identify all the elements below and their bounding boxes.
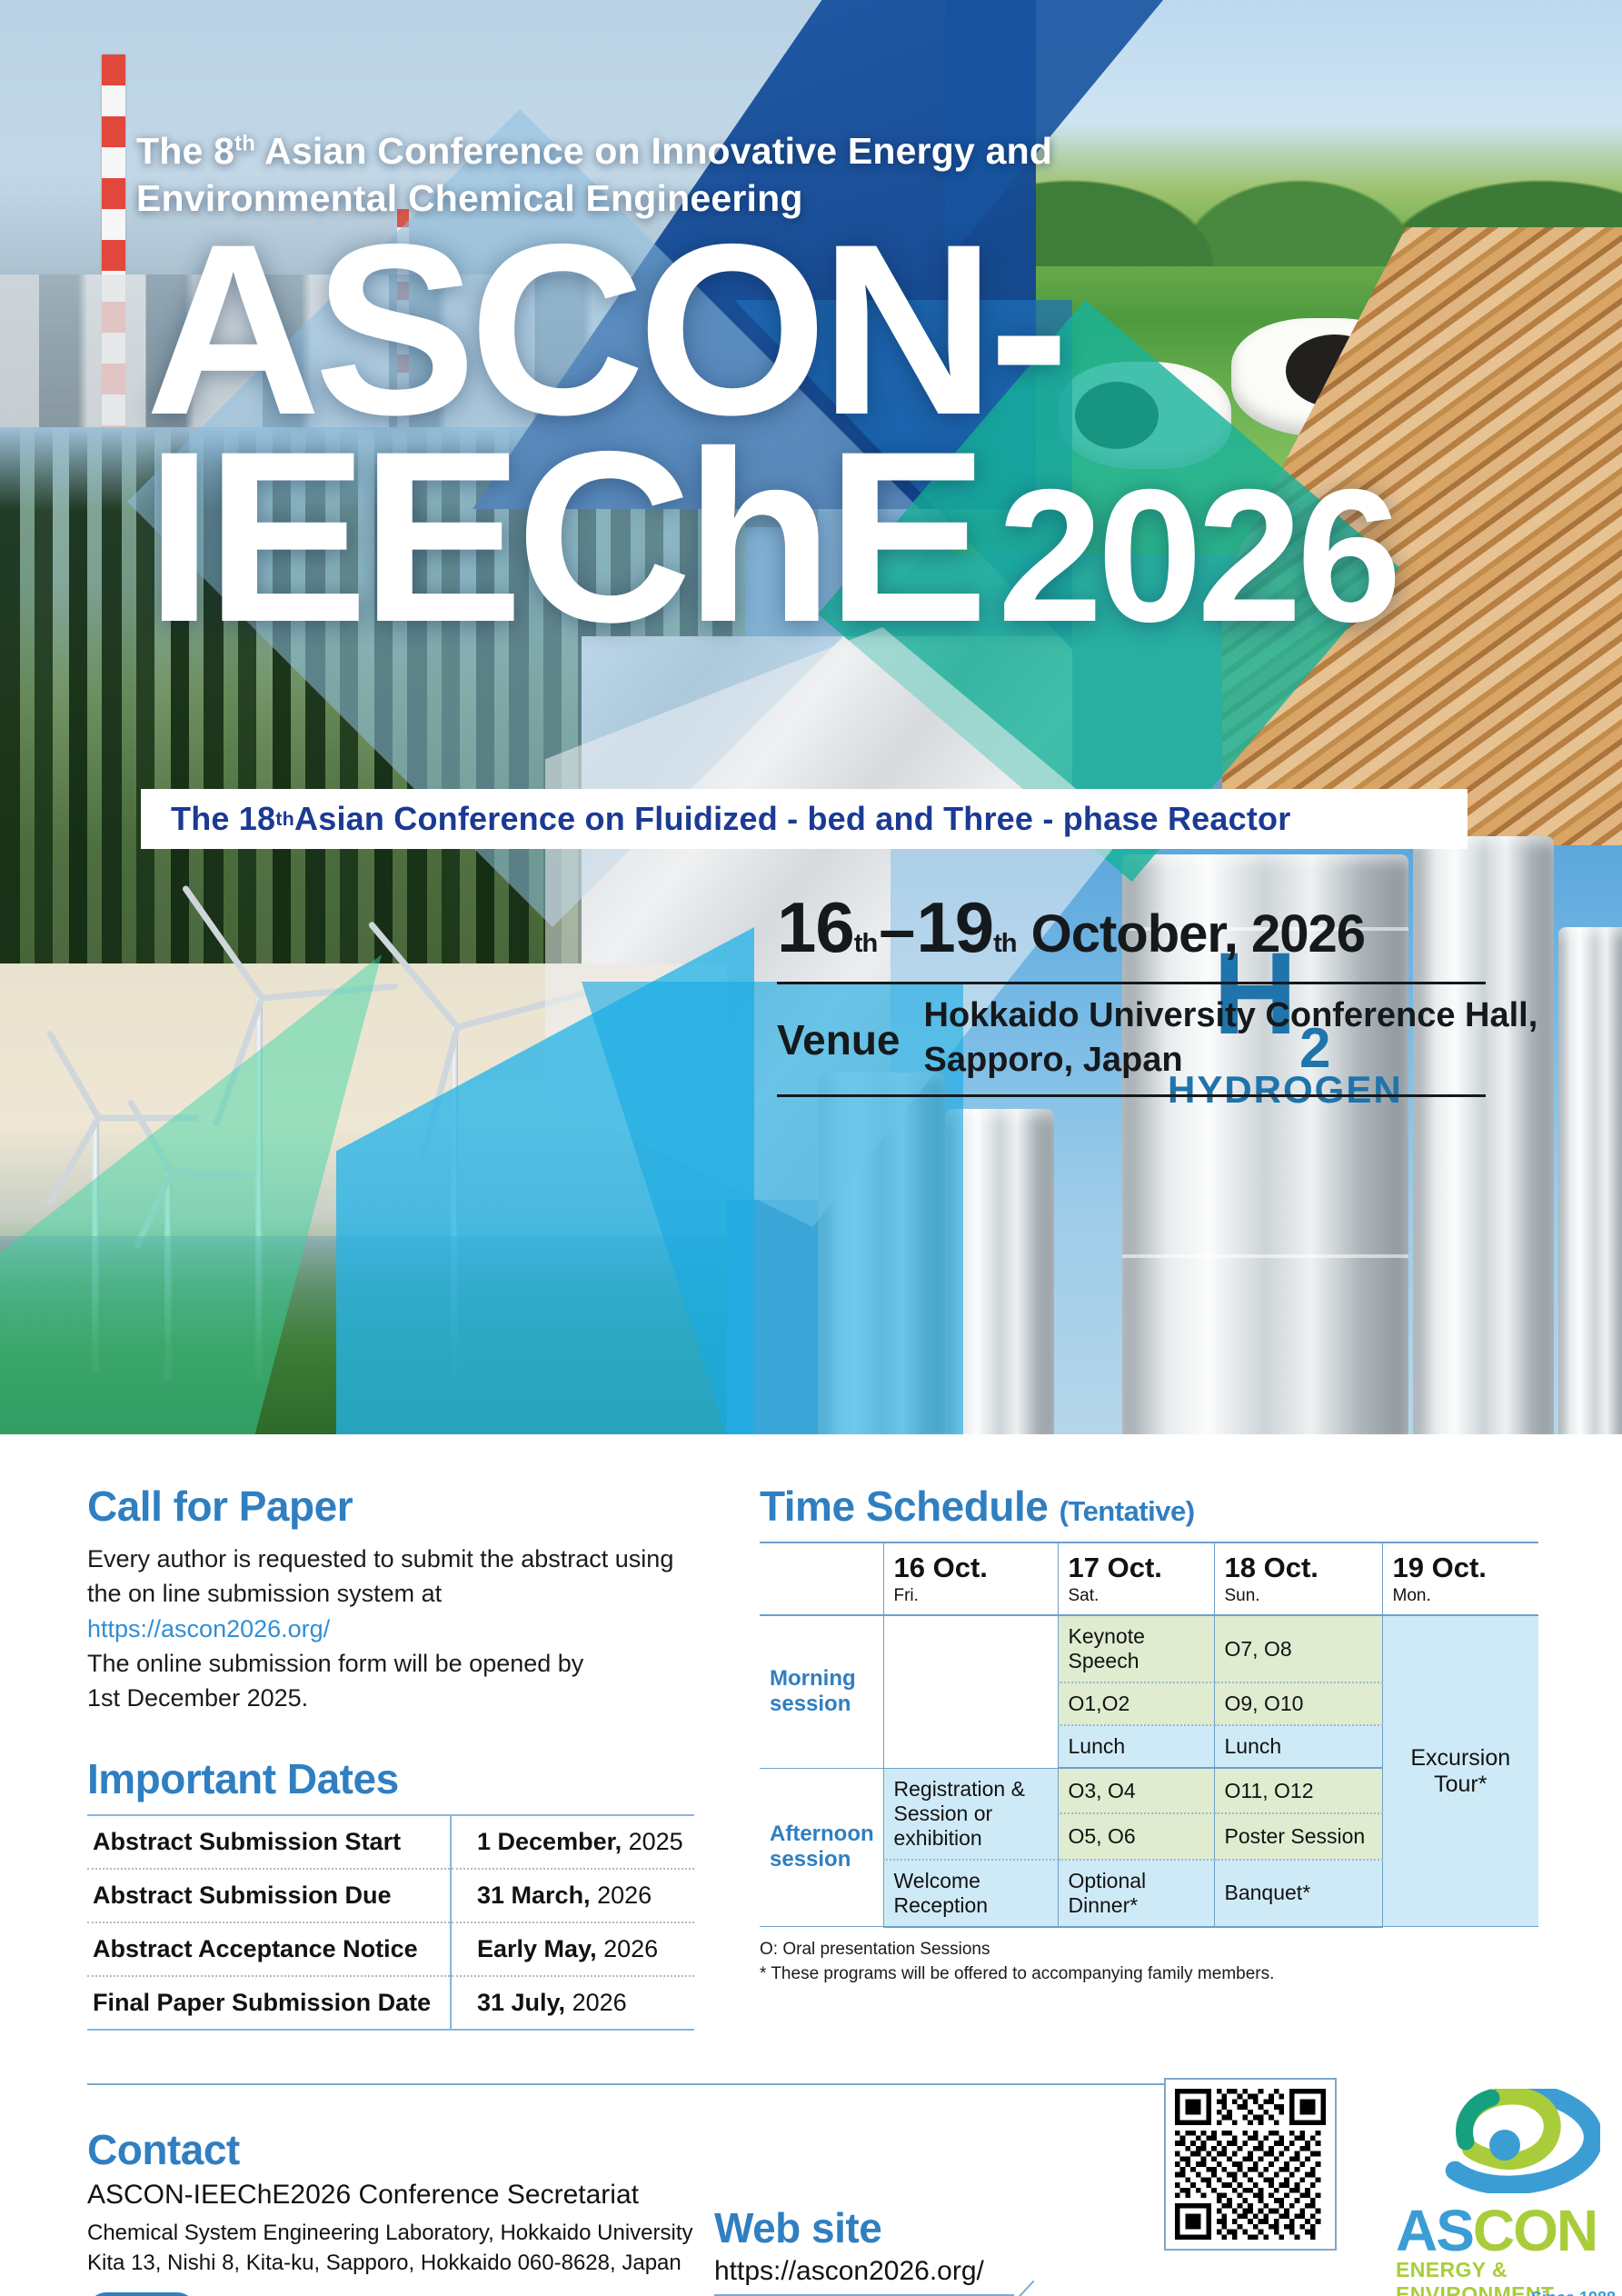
hero-banner: H 2 HYDROGEN The 8th Asian Conference on…	[0, 0, 1622, 1434]
website-heading: Web site	[714, 2203, 1114, 2252]
photo-wind-turbines	[0, 963, 727, 1434]
cell-16-reception: Welcome Reception	[883, 1860, 1058, 1927]
cell-18-a1: O11, O12	[1214, 1768, 1382, 1813]
page-title: ASCON- IEEChE2026	[145, 232, 1397, 634]
venue-label: Venue	[777, 993, 901, 1064]
conference-dates: 16th – 19th October, 2026	[777, 886, 1537, 969]
logo-wordmark: ASCON	[1396, 2205, 1622, 2258]
wind-turbine-icon	[391, 1027, 518, 1382]
date-label: Final Paper Submission Date	[87, 1976, 451, 2030]
schedule-day-18: 18 Oct. Sun.	[1214, 1542, 1382, 1615]
cell-17-m1: Keynote Speech	[1058, 1615, 1214, 1682]
cell-18-lunch: Lunch	[1214, 1725, 1382, 1768]
schedule-notes: O: Oral presentation Sessions * These pr…	[760, 1937, 1538, 1987]
schedule-day-17: 17 Oct. Sat.	[1058, 1542, 1214, 1615]
cell-19-excursion: Excursion Tour*	[1382, 1615, 1538, 1927]
website-block: Web site https://ascon2026.org/	[714, 2125, 1114, 2296]
table-row: Abstract Acceptance Notice Early May, 20…	[87, 1922, 694, 1976]
cell-16-morning	[883, 1615, 1058, 1768]
date-start: 16	[777, 886, 854, 969]
important-dates-heading: Important Dates	[87, 1754, 694, 1803]
email-row: E-mail ascon2026@gmail.com	[87, 2292, 714, 2296]
note-family: * These programs will be offered to acco…	[760, 1962, 1538, 1987]
afternoon-session-label: Afternoonsession	[760, 1768, 883, 1927]
venue-text: Hokkaido University Conference Hall,Sapp…	[924, 993, 1538, 1082]
logo-since: Since 1988	[1531, 2289, 1616, 2296]
website-url[interactable]: https://ascon2026.org/	[714, 2256, 1114, 2287]
schedule-header-row: 16 Oct. Fri. 17 Oct. Sat. 18 Oct. Sun.	[760, 1542, 1538, 1615]
cell-18-m2: O9, O10	[1214, 1682, 1382, 1725]
email-badge: E-mail	[87, 2292, 196, 2296]
date-label: Abstract Submission Due	[87, 1869, 451, 1922]
wind-turbine-icon	[50, 1118, 141, 1373]
headline-line1: The 8th Asian Conference on Innovative E…	[136, 130, 1052, 172]
cell-17-dinner: Optional Dinner*	[1058, 1860, 1214, 1927]
storage-tank	[818, 1073, 945, 1434]
date-venue-block: 16th – 19th October, 2026 Venue Hokkaido…	[777, 886, 1537, 1097]
date-value: Early May, 2026	[451, 1922, 694, 1976]
footer-divider	[87, 2083, 1259, 2085]
qr-code-icon	[1175, 2089, 1326, 2240]
note-oral: O: Oral presentation Sessions	[760, 1937, 1538, 1962]
date-label: Abstract Submission Start	[87, 1815, 451, 1869]
table-row: Abstract Submission Due 31 March, 2026	[87, 1869, 694, 1922]
ascon-logo: Since 1988 ASCON ENERGY & ENVIRONMENT Sa…	[1396, 2089, 1622, 2296]
cell-17-a2: O5, O6	[1058, 1813, 1214, 1859]
date-value: 31 July, 2026	[451, 1976, 694, 2030]
submission-link[interactable]: https://ascon2026.org/	[87, 1615, 330, 1642]
important-dates-table: Abstract Submission Start 1 December, 20…	[87, 1814, 694, 2031]
storage-tank	[945, 1109, 1054, 1434]
title-ieeche: IEEChE2026	[145, 439, 1397, 634]
ascon-swirl-icon	[1418, 2089, 1600, 2189]
title-year: 2026	[998, 451, 1397, 662]
date-month-year: October, 2026	[1017, 903, 1365, 964]
table-row: Abstract Submission Start 1 December, 20…	[87, 1815, 694, 1869]
cell-16-registration: Registration &Session or exhibition	[883, 1768, 1058, 1860]
contact-org: ASCON-IEEChE2026 Conference Secretariat	[87, 2180, 714, 2211]
footer: Contact ASCON-IEEChE2026 Conference Secr…	[87, 2125, 1541, 2296]
cell-18-a2: Poster Session	[1214, 1813, 1382, 1859]
venue-block: Venue Hokkaido University Conference Hal…	[777, 993, 1537, 1082]
table-row: Morningsession Keynote Speech O7, O8 Exc…	[760, 1615, 1538, 1682]
tentative-note: (Tentative)	[1060, 1495, 1195, 1527]
call-for-paper-text: Every author is requested to submit the …	[87, 1542, 694, 1716]
left-column: Call for Paper Every author is requested…	[87, 1482, 694, 2031]
storage-tank	[1558, 927, 1622, 1434]
time-schedule-table: 16 Oct. Fri. 17 Oct. Sat. 18 Oct. Sun.	[760, 1542, 1538, 1928]
time-schedule-heading: Time Schedule (Tentative)	[760, 1482, 1538, 1531]
morning-session-label: Morningsession	[760, 1615, 883, 1768]
date-value: 31 March, 2026	[451, 1869, 694, 1922]
cell-18-m1: O7, O8	[1214, 1615, 1382, 1682]
sub-conference-banner: The 18th Asian Conference on Fluidized -…	[141, 789, 1468, 849]
schedule-day-16: 16 Oct. Fri.	[883, 1542, 1058, 1615]
table-row: Final Paper Submission Date 31 July, 202…	[87, 1976, 694, 2030]
venue-rule	[777, 1094, 1486, 1097]
wind-turbine-icon	[191, 998, 327, 1380]
smokestack-icon	[102, 55, 125, 436]
contact-block: Contact ASCON-IEEChE2026 Conference Secr…	[87, 2125, 714, 2296]
right-column: Time Schedule (Tentative) 16 Oct. Fri. 1…	[760, 1482, 1538, 2031]
cell-17-a1: O3, O4	[1058, 1768, 1214, 1813]
wind-turbine-icon	[127, 1173, 209, 1382]
cell-18-banquet: Banquet*	[1214, 1860, 1382, 1927]
schedule-day-19: 19 Oct. Mon.	[1382, 1542, 1538, 1615]
call-for-paper-heading: Call for Paper	[87, 1482, 694, 1531]
date-rule	[777, 982, 1486, 984]
poster-body: Call for Paper Every author is requested…	[0, 1434, 1622, 2296]
date-label: Abstract Acceptance Notice	[87, 1922, 451, 1976]
cell-17-m2: O1,O2	[1058, 1682, 1214, 1725]
date-end: 19	[916, 886, 993, 969]
date-value: 1 December, 2025	[451, 1815, 694, 1869]
schedule-corner-cell	[760, 1542, 883, 1615]
cell-17-lunch: Lunch	[1058, 1725, 1214, 1768]
contact-heading: Contact	[87, 2125, 714, 2174]
contact-address: Chemical System Engineering Laboratory, …	[87, 2218, 714, 2278]
qr-code[interactable]	[1164, 2078, 1337, 2251]
